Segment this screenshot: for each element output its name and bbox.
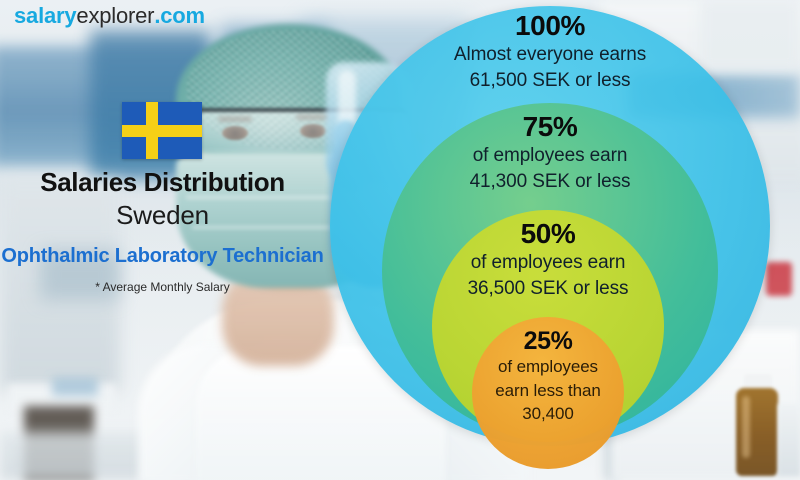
page-title: Salaries Distribution [0,168,325,197]
job-title-label: Ophthalmic Laboratory Technician [0,244,325,268]
flag-cross-vertical [146,102,158,159]
logo-text-salary: salary [14,3,76,28]
country-label: Sweden [0,199,325,233]
bubble-50-line1: of employees earn [471,251,626,274]
sweden-flag-icon [122,102,202,159]
bubble-75-percent-value: 75% [523,113,578,141]
logo-text-explorer: explorer [76,3,154,28]
bubble-25-line3: 30,400 [522,404,573,425]
bubble-75-line2: 41,300 SEK or less [470,170,631,193]
bubble-75-line1: of employees earn [473,144,628,167]
flag-cross-horizontal [122,125,202,137]
logo-text-dotcom: .com [154,3,205,28]
bubble-25-line2: earn less than [495,381,600,402]
bubble-100-line2: 61,500 SEK or less [470,69,631,92]
footnote-label: * Average Monthly Salary [0,280,325,294]
bubble-100-line1: Almost everyone earns [454,43,646,66]
heading-block: Salaries Distribution Sweden Ophthalmic … [0,168,325,294]
bubble-100-percent-value: 100% [515,12,585,40]
bubble-50-percent-value: 50% [521,220,576,248]
infographic-canvas: salaryexplorer.com Salaries Distribution… [0,0,800,480]
bubble-25-line1: of employees [498,357,598,378]
bubble-25-percent: 25% of employees earn less than 30,400 [472,317,624,469]
site-logo[interactable]: salaryexplorer.com [14,3,205,29]
bubble-50-line2: 36,500 SEK or less [468,277,629,300]
bubble-25-percent-value: 25% [524,329,573,354]
